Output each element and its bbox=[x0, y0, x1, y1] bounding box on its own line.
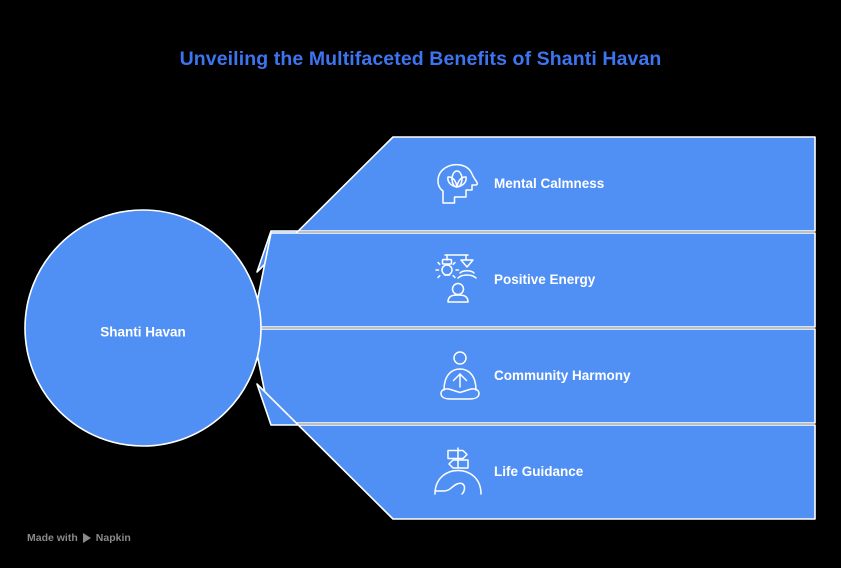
napkin-play-icon bbox=[83, 533, 91, 543]
benefits-fan-diagram: Shanti Havan bbox=[0, 0, 841, 568]
branch-label-mental-calmness: Mental Calmness bbox=[494, 176, 604, 191]
lamp-waves-person-icon bbox=[429, 250, 485, 306]
watermark-brand: Napkin bbox=[96, 532, 131, 544]
meditating-person-arrow-icon bbox=[432, 348, 488, 404]
branch-label-positive-energy: Positive Energy bbox=[494, 272, 595, 287]
signpost-hill-path-icon bbox=[430, 443, 486, 499]
watermark-prefix: Made with bbox=[27, 532, 78, 544]
watermark: Made with Napkin bbox=[27, 532, 131, 544]
branch-label-community-harmony: Community Harmony bbox=[494, 368, 631, 383]
diagram-canvas: Unveiling the Multifaceted Benefits of S… bbox=[0, 0, 841, 568]
branch-label-life-guidance: Life Guidance bbox=[494, 464, 583, 479]
hub-label: Shanti Havan bbox=[100, 325, 186, 340]
head-lotus-icon bbox=[430, 155, 486, 211]
